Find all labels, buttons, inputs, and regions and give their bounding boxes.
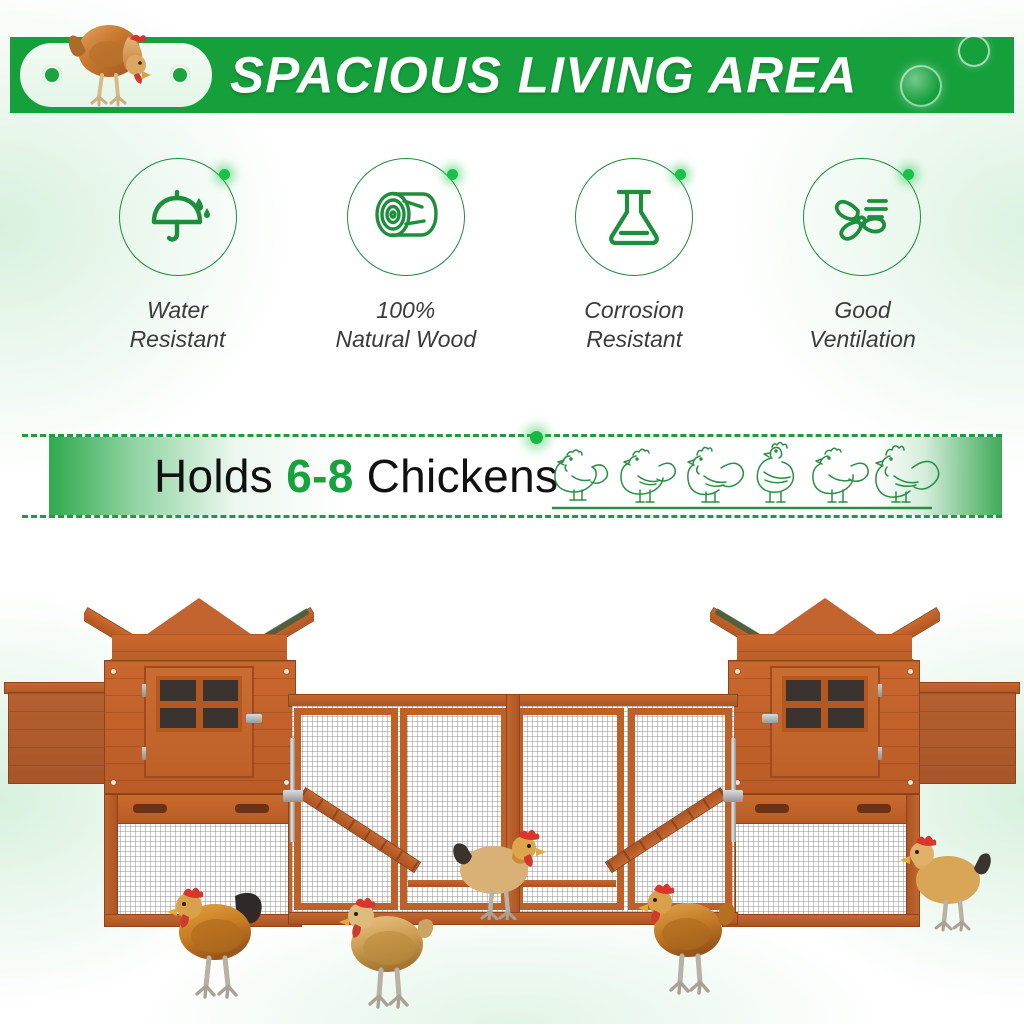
umbrella-raindrop-icon	[139, 178, 217, 256]
center-divider-post	[506, 694, 520, 922]
bubble-large-icon	[900, 65, 942, 107]
latch-hasp-right[interactable]	[723, 790, 743, 802]
feature-label: 100% Natural Wood	[336, 296, 477, 355]
feature-water-resistant: Water Resistant	[70, 158, 285, 355]
run-post	[104, 794, 118, 926]
center-run-bottom-rail	[288, 912, 738, 925]
product-image	[0, 556, 1024, 1024]
feature-label: Good Ventilation	[809, 296, 916, 355]
run-post	[906, 794, 920, 926]
capacity-band: Holds 6-8 Chickens	[22, 434, 1002, 518]
screw-dot-right-icon	[170, 65, 190, 85]
center-run	[288, 694, 738, 926]
window-pane-grid	[782, 676, 868, 732]
feature-label: Corrosion Resistant	[584, 296, 684, 355]
feature-label: Water Resistant	[130, 296, 226, 355]
feature-ring	[803, 158, 921, 276]
window-pane	[160, 680, 196, 701]
hinge-icon	[878, 684, 882, 697]
window-pane	[203, 708, 239, 729]
nest-drawer[interactable]	[108, 794, 294, 824]
run-rail-bottom	[722, 914, 920, 927]
hinge-icon	[142, 684, 146, 697]
window-pane	[829, 708, 865, 729]
drawer-handle[interactable]	[857, 804, 891, 813]
coop-unit-left	[0, 556, 330, 956]
capacity-text: Holds 6-8 Chickens	[154, 449, 558, 503]
window-pane-grid	[156, 676, 242, 732]
window-pane	[829, 680, 865, 701]
window-pane	[786, 680, 822, 701]
page-background: SPACIOUS LIVING AREA Water Resistant	[0, 0, 1024, 1024]
window-pane	[203, 680, 239, 701]
hinge-icon	[142, 747, 146, 760]
wood-log-icon	[366, 177, 446, 257]
capacity-suffix: Chickens	[354, 450, 559, 502]
roost-bar	[520, 880, 616, 887]
run-panel	[294, 708, 398, 910]
fan-ventilation-icon	[822, 177, 902, 257]
spark-dot-icon	[219, 169, 230, 180]
drawer-handle[interactable]	[235, 804, 269, 813]
window-latch[interactable]	[246, 714, 262, 723]
spark-dot-icon	[903, 169, 914, 180]
feature-corrosion-resistant: Corrosion Resistant	[527, 158, 742, 355]
feature-ring	[347, 158, 465, 276]
feature-ring	[575, 158, 693, 276]
run-mesh-lower	[732, 824, 914, 922]
chicken-line-art-row-icon	[552, 440, 952, 512]
banner-title: SPACIOUS LIVING AREA	[230, 46, 858, 105]
window-door[interactable]	[144, 666, 254, 778]
nest-drawer[interactable]	[730, 794, 916, 824]
run-panel	[628, 708, 732, 910]
window-latch[interactable]	[762, 714, 778, 723]
latch-hasp-left[interactable]	[283, 790, 303, 802]
hinge-icon	[878, 747, 882, 760]
flask-icon	[596, 179, 672, 255]
window-door[interactable]	[770, 666, 880, 778]
spark-dot-icon	[530, 431, 543, 444]
feature-good-ventilation: Good Ventilation	[755, 158, 970, 355]
feature-list: Water Resistant 100% Nat	[70, 158, 970, 373]
feature-natural-wood: 100% Natural Wood	[298, 158, 513, 355]
bubble-small-icon	[958, 35, 990, 67]
capacity-count: 6-8	[286, 450, 353, 502]
feature-ring	[119, 158, 237, 276]
run-rail-bottom	[104, 914, 302, 927]
drawer-handle[interactable]	[755, 804, 789, 813]
banner-left-tab	[18, 41, 214, 109]
drawer-handle[interactable]	[133, 804, 167, 813]
header-banner: SPACIOUS LIVING AREA	[10, 37, 1014, 113]
spark-dot-icon	[675, 169, 686, 180]
screw-dot-left-icon	[42, 65, 62, 85]
coop-unit-right	[694, 556, 1024, 956]
window-pane	[786, 708, 822, 729]
run-mesh-lower	[110, 824, 292, 922]
capacity-prefix: Holds	[154, 450, 286, 502]
roost-bar	[408, 880, 504, 887]
spark-dot-icon	[447, 169, 458, 180]
window-pane	[160, 708, 196, 729]
